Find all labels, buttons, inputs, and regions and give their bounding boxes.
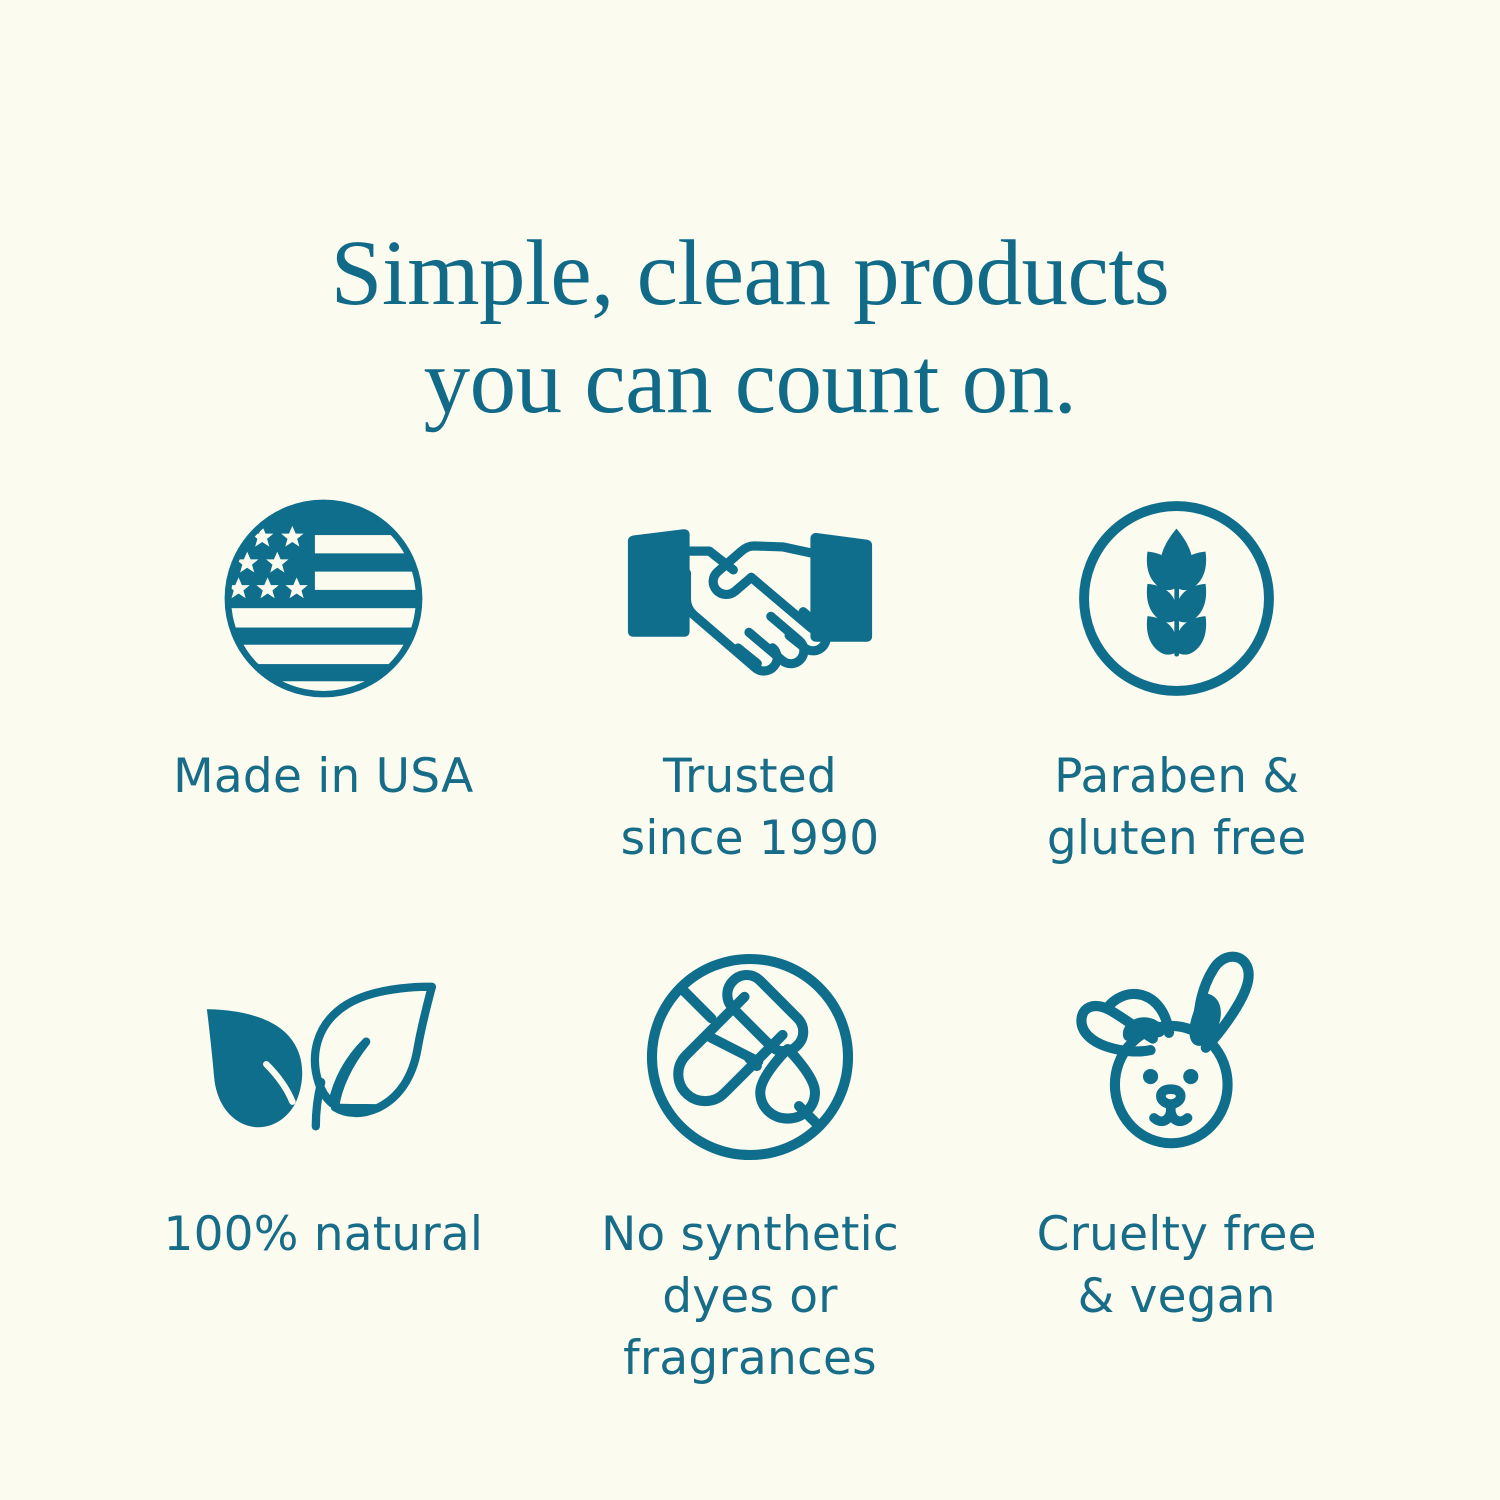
page-title: Simple, clean products you can count on.: [0, 220, 1500, 436]
badge-paraben-gluten-free: Paraben & gluten free: [963, 478, 1390, 870]
badge-trusted-since: Trusted since 1990: [537, 478, 964, 870]
badge-label: Cruelty free & vegan: [1037, 1204, 1317, 1328]
bunny-head-icon: [1062, 932, 1292, 1182]
badge-label: 100% natural: [163, 1204, 483, 1266]
handshake-icon: [625, 478, 875, 718]
badge-label: Made in USA: [173, 746, 473, 808]
badge-label: No synthetic dyes or fragrances: [601, 1204, 899, 1390]
badge-made-in-usa: Made in USA: [110, 478, 537, 870]
badge-grid: Made in USA: [110, 478, 1390, 1390]
usa-flag-circle-icon: [216, 478, 431, 718]
wheat-circle-icon: [1069, 478, 1284, 718]
promo-panel: Simple, clean products you can count on.: [0, 0, 1500, 1500]
badge-no-synthetic-dyes: No synthetic dyes or fragrances: [537, 932, 964, 1390]
badge-label: Paraben & gluten free: [1047, 746, 1307, 870]
two-leaves-icon: [192, 932, 454, 1182]
badge-cruelty-free-vegan: Cruelty free & vegan: [963, 932, 1390, 1390]
page-title-line-2: you can count on.: [0, 328, 1500, 436]
no-test-tube-icon: [636, 932, 864, 1182]
badge-label: Trusted since 1990: [621, 746, 880, 870]
badge-100-natural: 100% natural: [110, 932, 537, 1390]
page-title-line-1: Simple, clean products: [0, 220, 1500, 328]
